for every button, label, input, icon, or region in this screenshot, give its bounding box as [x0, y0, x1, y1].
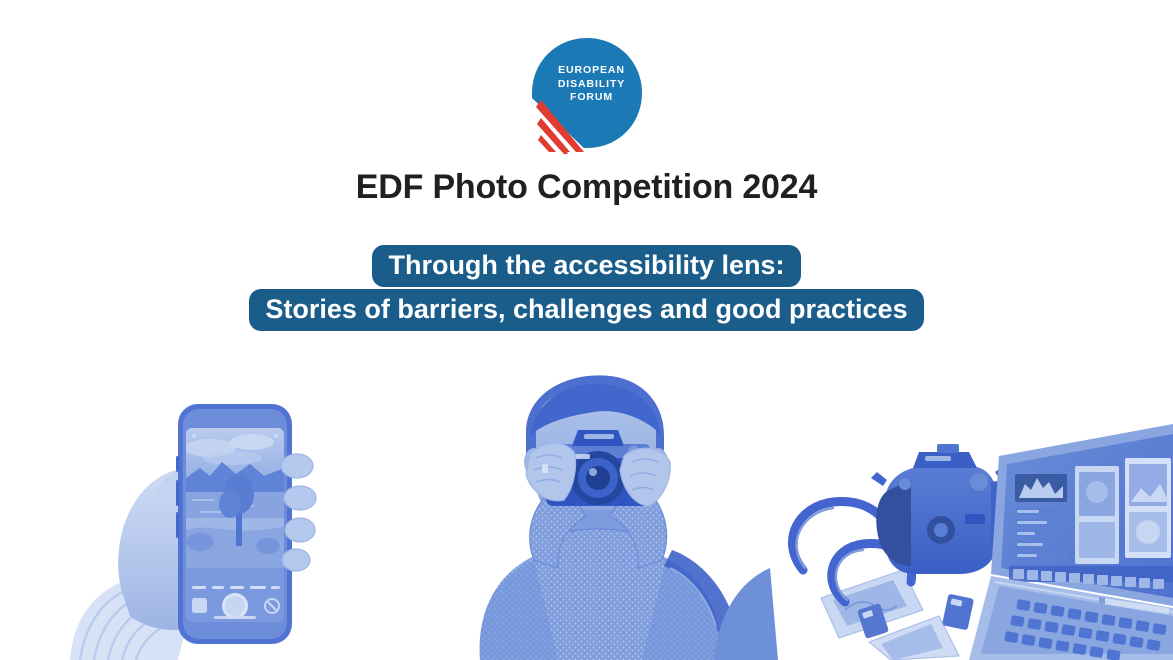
- subtitle-banner: Through the accessibility lens: Stories …: [0, 243, 1173, 331]
- european-disability-forum-logo: EUROPEAN DISABILITY FORUM: [526, 34, 648, 154]
- photo-hand-holding-smartphone: [60, 370, 410, 660]
- photo-camera-and-laptop: [773, 410, 1173, 660]
- poster-canvas: EUROPEAN DISABILITY FORUM EDF Photo Comp…: [0, 0, 1173, 660]
- page-title: EDF Photo Competition 2024: [0, 168, 1173, 207]
- subtitle-line-1: Through the accessibility lens:: [372, 245, 800, 287]
- subtitle-line-2: Stories of barriers, challenges and good…: [249, 289, 923, 331]
- photo-person-with-camera: [418, 370, 778, 660]
- photo-strip: [0, 360, 1173, 660]
- logo-container: EUROPEAN DISABILITY FORUM: [0, 34, 1173, 154]
